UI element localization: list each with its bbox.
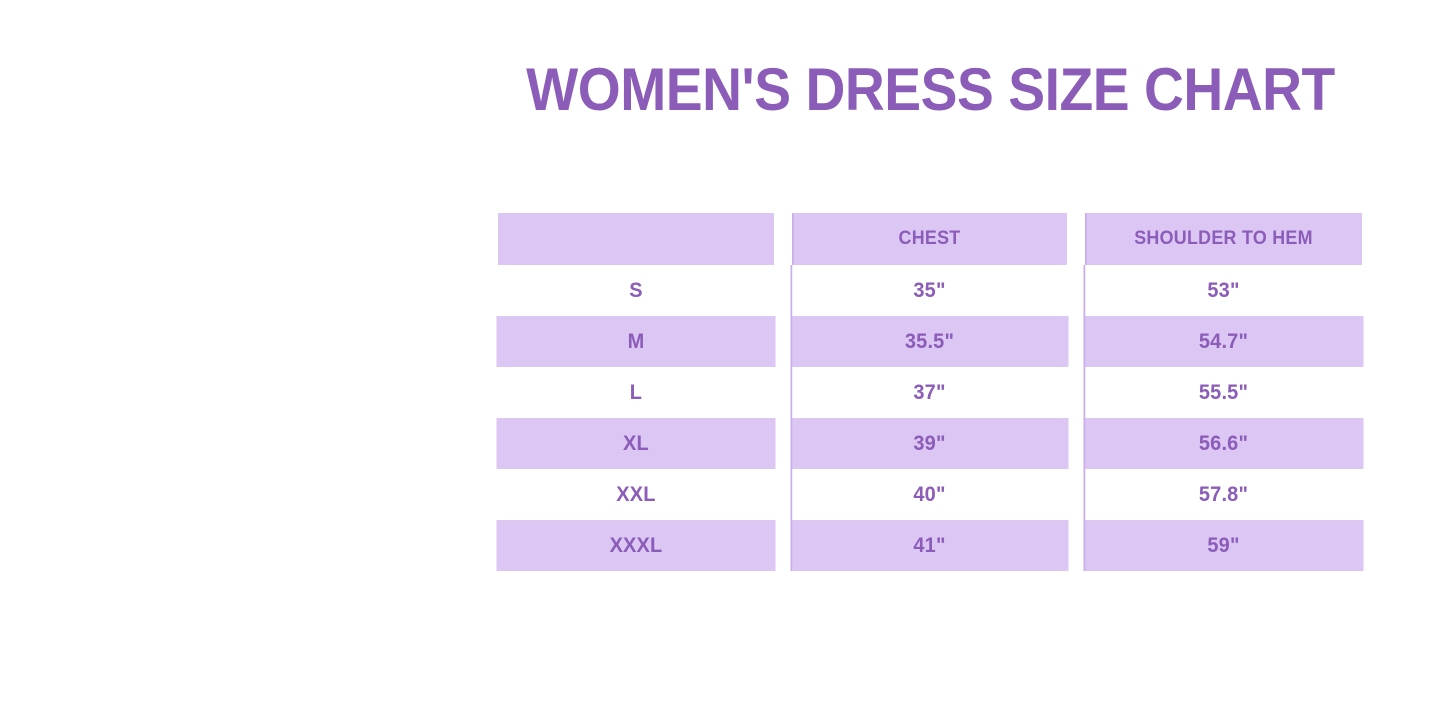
- cell-size: XXL: [496, 469, 775, 520]
- cell-shoulder-to-hem: 56.6": [1083, 418, 1363, 469]
- table-row: XXXL 41" 59": [489, 520, 1371, 571]
- size-chart-table-container: CHEST SHOULDER TO HEM S 35" 53" M 35.5" …: [489, 213, 1371, 571]
- cell-shoulder-to-hem: 55.5": [1083, 367, 1363, 418]
- column-header-shoulder-to-hem: SHOULDER TO HEM: [1085, 213, 1362, 265]
- cell-chest: 37": [790, 367, 1068, 418]
- cell-shoulder-to-hem: 53": [1083, 265, 1363, 316]
- column-header-chest: CHEST: [792, 213, 1067, 265]
- cell-size: XXXL: [496, 520, 775, 571]
- cell-chest: 35": [790, 265, 1068, 316]
- cell-chest: 41": [790, 520, 1068, 571]
- table-header-row: CHEST SHOULDER TO HEM: [489, 213, 1371, 265]
- cell-shoulder-to-hem: 57.8": [1083, 469, 1363, 520]
- table-row: S 35" 53": [489, 265, 1371, 316]
- cell-chest: 35.5": [790, 316, 1068, 367]
- table-body: S 35" 53" M 35.5" 54.7" L 37" 55.5" XL 3…: [489, 265, 1371, 571]
- table-row: XL 39" 56.6": [489, 418, 1371, 469]
- column-header-size: [498, 213, 774, 265]
- cell-size: M: [496, 316, 775, 367]
- table-row: XXL 40" 57.8": [489, 469, 1371, 520]
- cell-chest: 39": [790, 418, 1068, 469]
- page-title: WOMEN'S DRESS SIZE CHART: [526, 40, 1335, 140]
- cell-size: L: [496, 367, 775, 418]
- page-title-block: WOMEN'S DRESS SIZE CHART: [489, 40, 1371, 140]
- cell-chest: 40": [790, 469, 1068, 520]
- table-header: CHEST SHOULDER TO HEM: [489, 213, 1371, 265]
- table-row: L 37" 55.5": [489, 367, 1371, 418]
- cell-shoulder-to-hem: 54.7": [1083, 316, 1363, 367]
- size-chart-page: WOMEN'S DRESS SIZE CHART CHEST SHOULDER …: [0, 0, 1445, 723]
- size-chart-table: CHEST SHOULDER TO HEM S 35" 53" M 35.5" …: [489, 213, 1371, 571]
- cell-size: XL: [496, 418, 775, 469]
- table-row: M 35.5" 54.7": [489, 316, 1371, 367]
- cell-shoulder-to-hem: 59": [1083, 520, 1363, 571]
- cell-size: S: [496, 265, 775, 316]
